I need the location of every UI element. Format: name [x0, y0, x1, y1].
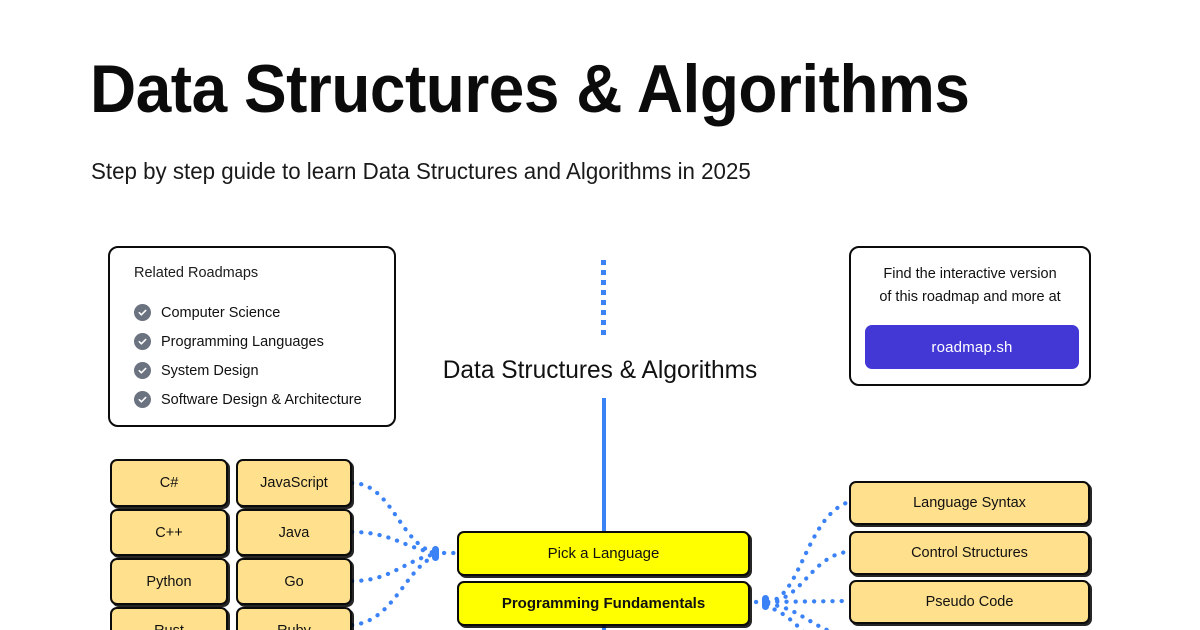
- node-language-python[interactable]: Python: [110, 558, 228, 605]
- node-language-java[interactable]: Java: [236, 509, 352, 556]
- node-language-go[interactable]: Go: [236, 558, 352, 605]
- center-vertical-connector: [602, 398, 606, 531]
- center-heading: Data Structures & Algorithms: [12, 356, 1188, 385]
- related-roadmap-item-computer-science[interactable]: Computer Science: [134, 298, 386, 327]
- node-label: Language Syntax: [913, 495, 1026, 511]
- node-label: Pick a Language: [548, 545, 660, 562]
- node-label: Ruby: [277, 623, 311, 630]
- check-circle-icon: [134, 304, 151, 321]
- roadmap-canvas: Data Structures & Algorithms Step by ste…: [0, 0, 1200, 630]
- node-programming-fundamentals[interactable]: Programming Fundamentals: [457, 581, 750, 626]
- center-dotted-connector: [601, 260, 606, 340]
- node-label: Java: [279, 525, 310, 541]
- interactive-card-line-2: of this roadmap and more at: [851, 289, 1089, 305]
- node-language-javascript[interactable]: JavaScript: [236, 459, 352, 507]
- node-control-structures[interactable]: Control Structures: [849, 531, 1090, 575]
- related-roadmap-item-software-design-architecture[interactable]: Software Design & Architecture: [134, 385, 386, 414]
- node-language-csharp[interactable]: C#: [110, 459, 228, 507]
- node-pick-a-language[interactable]: Pick a Language: [457, 531, 750, 576]
- node-label: C++: [155, 525, 182, 541]
- node-label: Control Structures: [911, 545, 1028, 561]
- related-roadmap-label: Software Design & Architecture: [161, 392, 362, 408]
- node-language-cpp[interactable]: C++: [110, 509, 228, 556]
- related-roadmap-label: Computer Science: [161, 305, 280, 321]
- node-label: Pseudo Code: [926, 594, 1014, 610]
- related-roadmap-label: Programming Languages: [161, 334, 324, 350]
- node-language-ruby[interactable]: Ruby: [236, 607, 352, 630]
- interactive-card-line-1: Find the interactive version: [851, 266, 1089, 282]
- node-label: JavaScript: [260, 475, 328, 491]
- node-label: Programming Fundamentals: [502, 595, 705, 612]
- check-circle-icon: [134, 391, 151, 408]
- connector-nub-left: [432, 546, 439, 561]
- page-subtitle: Step by step guide to learn Data Structu…: [91, 158, 751, 185]
- node-language-syntax[interactable]: Language Syntax: [849, 481, 1090, 525]
- node-pseudo-code[interactable]: Pseudo Code: [849, 580, 1090, 624]
- check-circle-icon: [134, 333, 151, 350]
- related-roadmap-item-programming-languages[interactable]: Programming Languages: [134, 327, 386, 356]
- node-label: C#: [160, 475, 179, 491]
- related-roadmaps-panel: Related Roadmaps Computer Science Progra…: [108, 246, 396, 427]
- node-label: Go: [284, 574, 303, 590]
- related-roadmaps-heading: Related Roadmaps: [134, 265, 258, 281]
- node-label: Python: [146, 574, 191, 590]
- page-title: Data Structures & Algorithms: [90, 55, 970, 123]
- node-label: Rust: [154, 623, 184, 630]
- node-language-rust[interactable]: Rust: [110, 607, 228, 630]
- connector-nub-right: [762, 595, 769, 610]
